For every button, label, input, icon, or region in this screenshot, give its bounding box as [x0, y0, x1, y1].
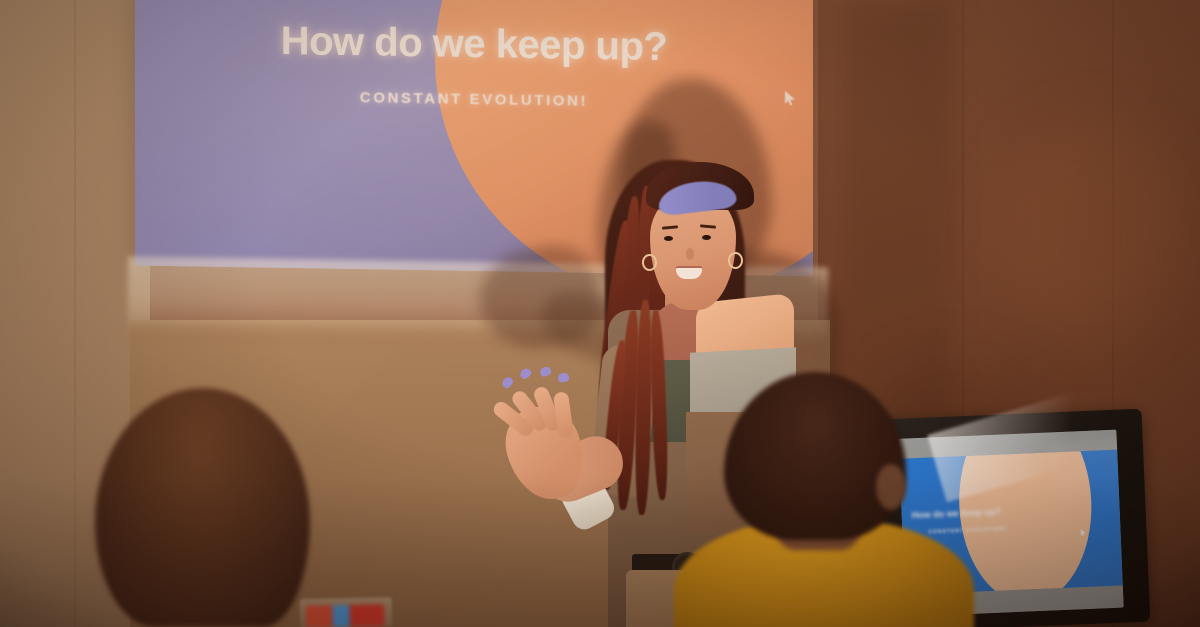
attendee-left-hair-strands — [109, 448, 299, 627]
attendee-right — [700, 372, 930, 627]
presenter-earring — [728, 252, 743, 269]
presenter-fingernail — [501, 375, 515, 389]
attendee-right-ear — [876, 464, 906, 510]
presenter-eye — [702, 235, 711, 240]
laptop-screen — [306, 604, 384, 627]
presenter-fingernail — [539, 365, 553, 377]
presenter-fingernail — [518, 367, 532, 381]
attendee-right-hair — [724, 372, 906, 540]
attendee-laptop — [300, 597, 393, 627]
presenter-eye — [664, 236, 673, 241]
presenter-nose — [686, 248, 694, 260]
attendee-left — [95, 388, 310, 627]
presenter-fingernail — [557, 372, 569, 382]
presenter-earring — [642, 254, 657, 271]
presentation-scene: How do we keep up? CONSTANT EVOLUTION! — [0, 0, 1200, 627]
wall-seam — [74, 0, 76, 627]
